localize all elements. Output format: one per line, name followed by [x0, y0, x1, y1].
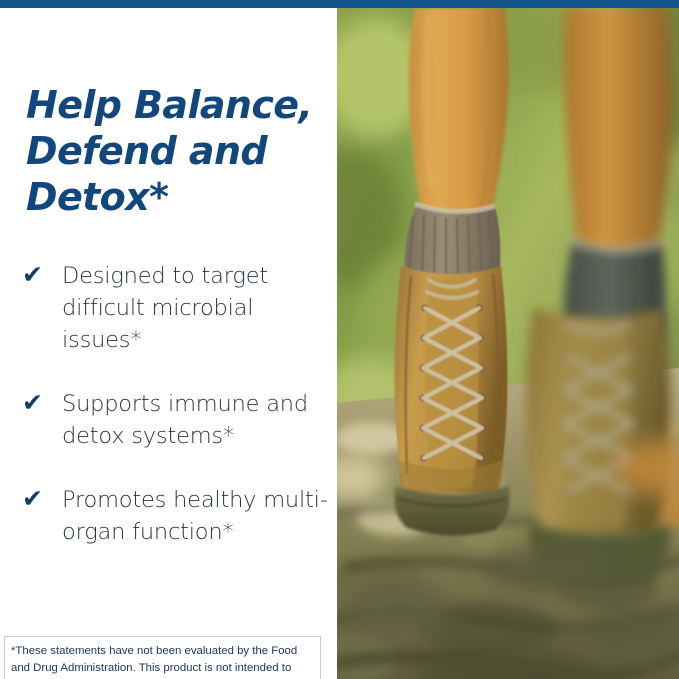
headline-line-3: Detox*: [26, 175, 168, 219]
headline-line-1: Help Balance,: [26, 83, 312, 127]
list-item: ✔ Promotes healthy multi-organ function*: [20, 484, 330, 548]
fda-disclaimer: *These statements have not been evaluate…: [4, 636, 321, 679]
list-item: ✔ Designed to target difficult microbial…: [20, 260, 330, 356]
check-icon: ✔: [22, 262, 48, 288]
benefit-text: Promotes healthy multi-organ function*: [62, 484, 330, 548]
benefit-list: ✔ Designed to target difficult microbial…: [20, 260, 330, 548]
benefit-text: Designed to target difficult microbial i…: [62, 260, 330, 356]
product-feature-panel: Help Balance,Defend andDetox* ✔ Designed…: [0, 0, 679, 679]
text-column: Help Balance,Defend andDetox* ✔ Designed…: [0, 8, 337, 679]
hero-photo: [337, 8, 679, 679]
check-icon: ✔: [22, 390, 48, 416]
headline-line-2: Defend and: [26, 129, 267, 173]
check-icon: ✔: [22, 486, 48, 512]
page-title: Help Balance,Defend andDetox*: [26, 82, 326, 220]
top-accent-bar: [0, 0, 679, 8]
list-item: ✔ Supports immune and detox systems*: [20, 388, 330, 452]
benefit-text: Supports immune and detox systems*: [62, 388, 330, 452]
